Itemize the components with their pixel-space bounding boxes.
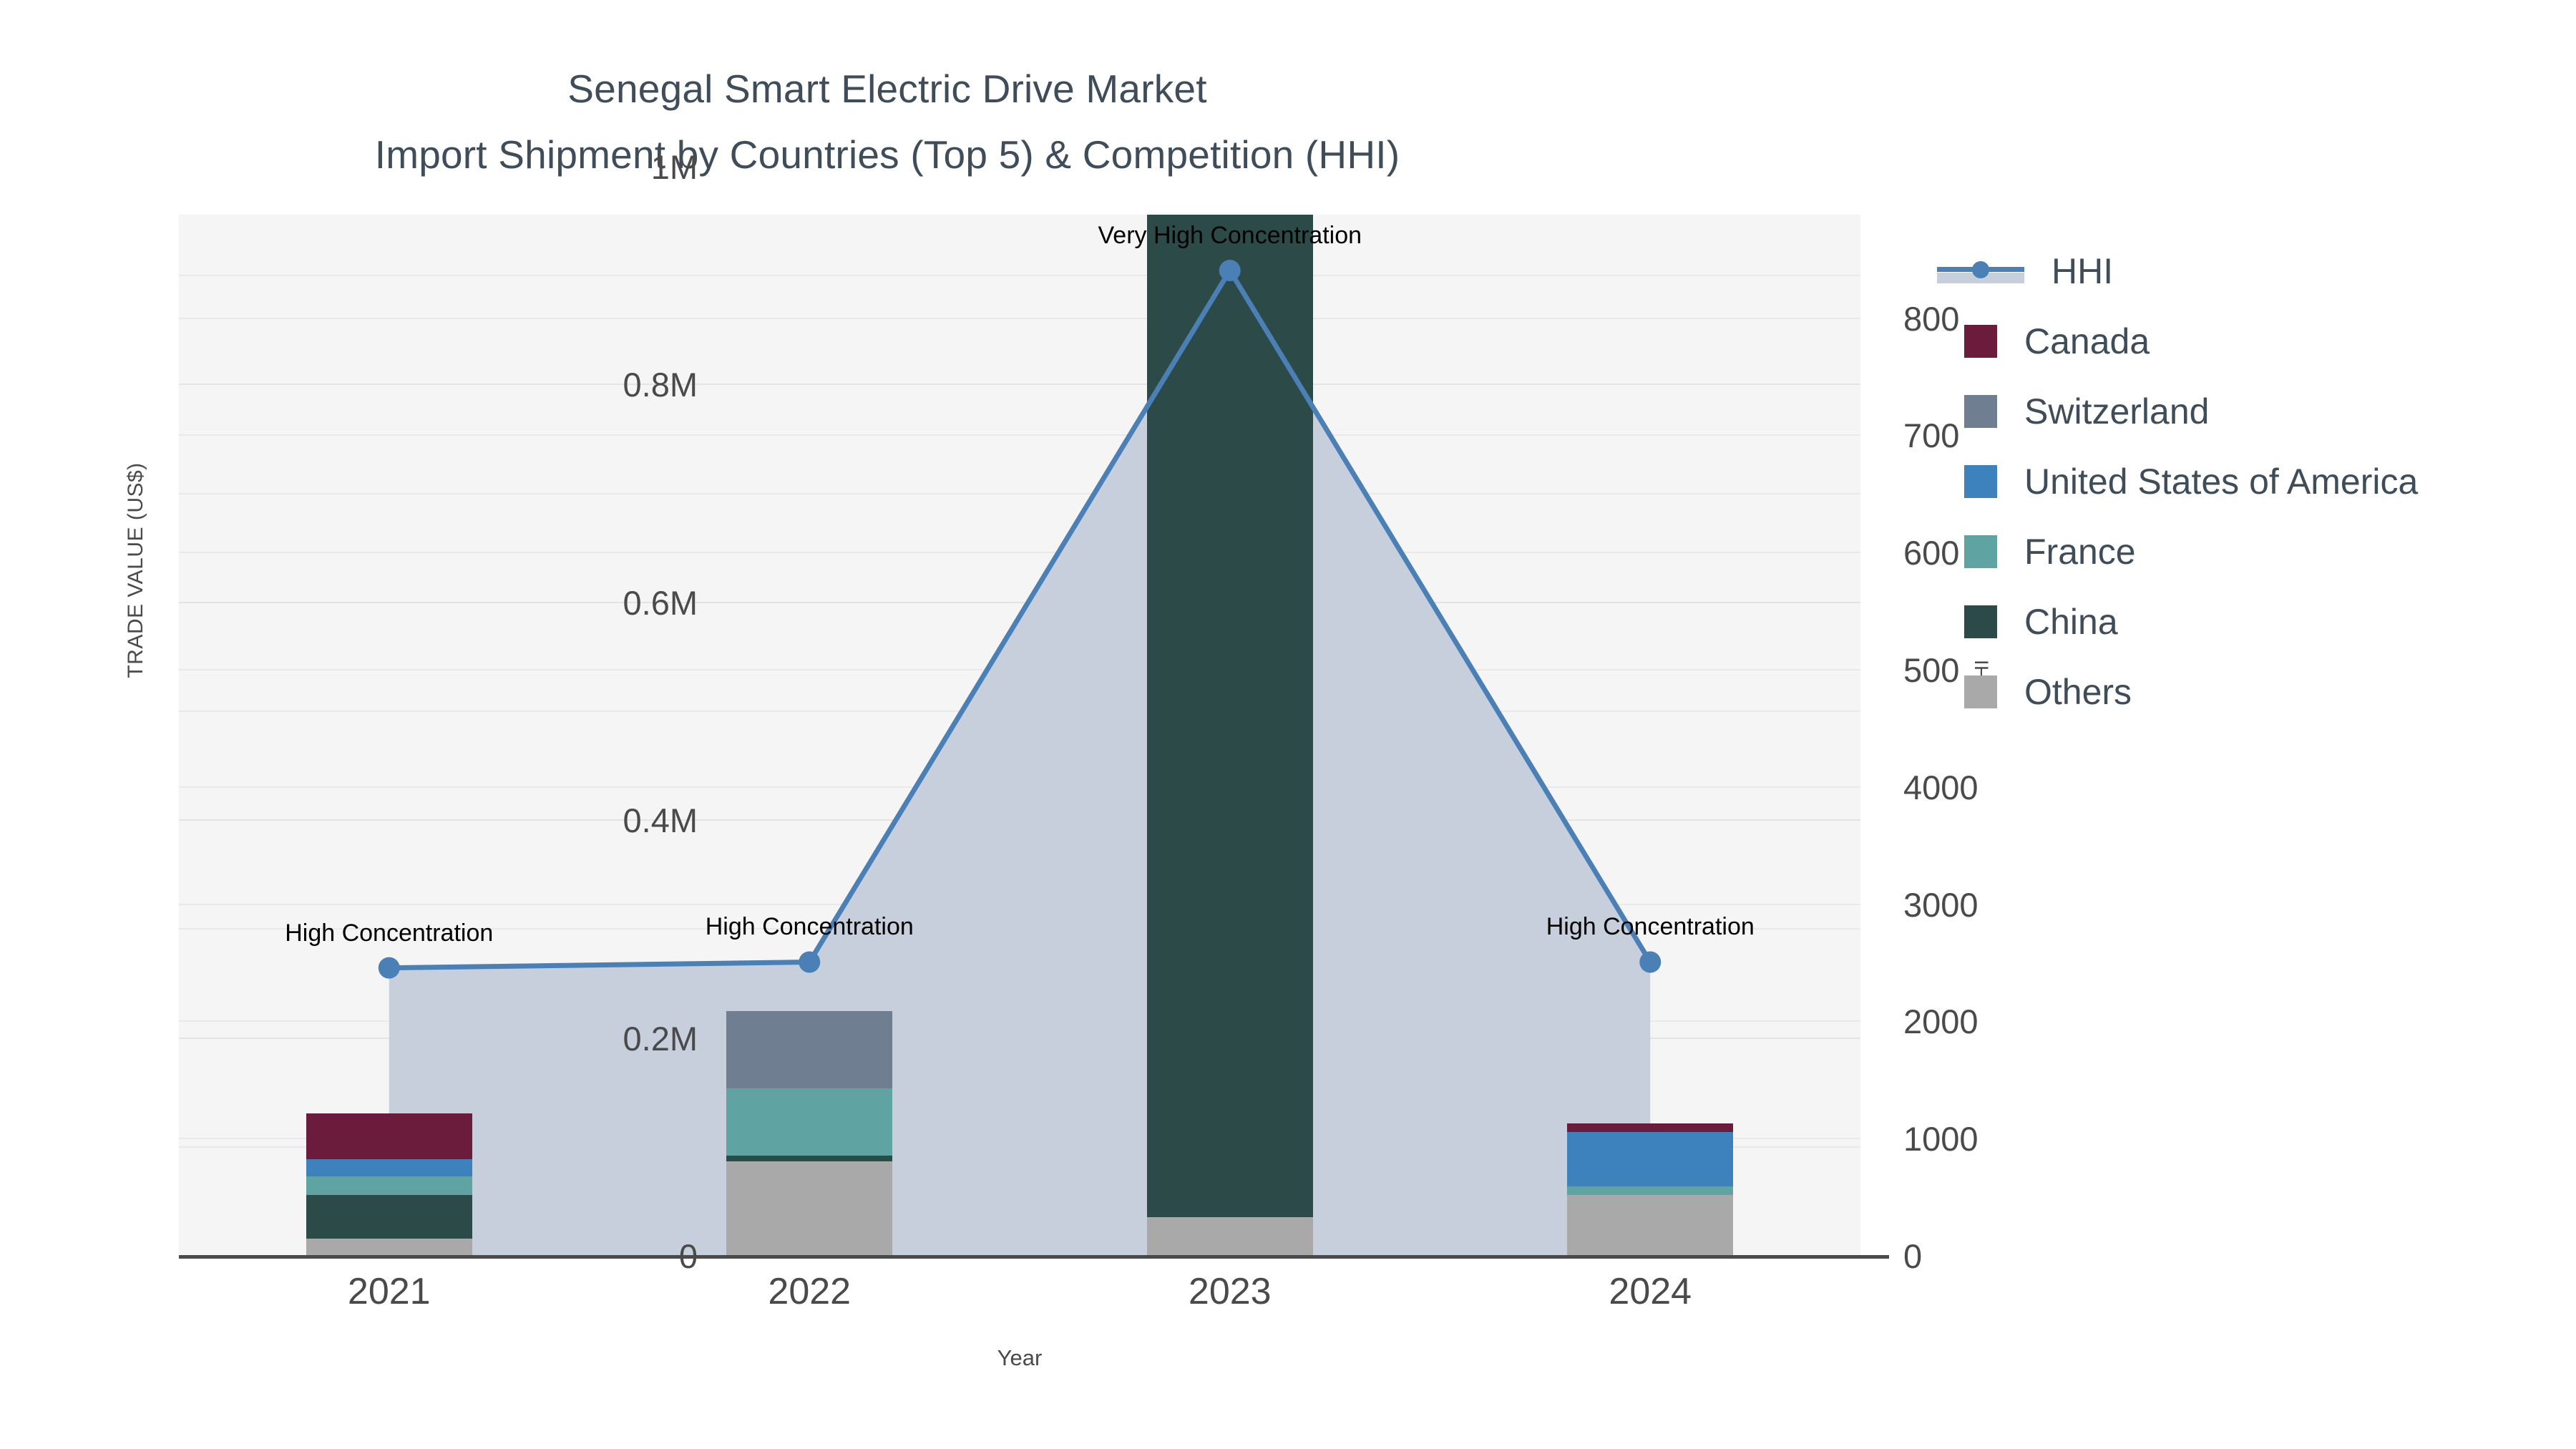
legend-label: HHI xyxy=(2051,250,2113,292)
y-axis-left-tick: 0.8M xyxy=(483,365,698,404)
legend-swatch-france xyxy=(1964,535,1997,568)
hhi-marker-2023[interactable] xyxy=(1219,260,1241,281)
legend-label: Canada xyxy=(2024,321,2150,362)
y-axis-left-tick: 1M xyxy=(483,147,698,187)
plot-area xyxy=(179,215,1860,1256)
hhi-marker-2022[interactable] xyxy=(799,951,820,972)
legend-item-china[interactable]: China xyxy=(1964,587,2558,657)
hhi-line-layer xyxy=(179,215,1860,1256)
x-axis-label: Year xyxy=(877,1345,1163,1371)
y-axis-left-tick: 0.2M xyxy=(483,1019,698,1058)
x-axis-tick-2023: 2023 xyxy=(1087,1270,1373,1313)
y-axis-left-tick: 0.6M xyxy=(483,583,698,623)
chart-canvas: Senegal Smart Electric Drive Market Impo… xyxy=(0,0,2576,1449)
legend-item-canada[interactable]: Canada xyxy=(1964,306,2558,376)
legend-item-switzerland[interactable]: Switzerland xyxy=(1964,376,2558,447)
x-axis-tick-2021: 2021 xyxy=(246,1270,532,1313)
legend-item-others[interactable]: Others xyxy=(1964,657,2558,727)
hhi-marker-2021[interactable] xyxy=(379,957,400,979)
y-axis-right-tick: 1000 xyxy=(1903,1119,2132,1158)
y-axis-right-tick: 3000 xyxy=(1903,885,2132,924)
hhi-annotation-2024: High Concentration xyxy=(1546,913,1755,941)
y-axis-right-tick: 4000 xyxy=(1903,768,2132,807)
legend-label: Switzerland xyxy=(2024,391,2209,432)
hhi-annotation-2023: Very High Concentration xyxy=(1098,222,1362,250)
hhi-annotation-2021: High Concentration xyxy=(285,919,493,947)
chart-title-line-2: Import Shipment by Countries (Top 5) & C… xyxy=(0,122,1775,187)
chart-title: Senegal Smart Electric Drive Market Impo… xyxy=(0,56,1775,187)
y-axis-left-tick: 0.4M xyxy=(483,801,698,840)
y-axis-right-tick: 0 xyxy=(1903,1236,2132,1276)
legend-label: France xyxy=(2024,531,2136,572)
legend: HHICanadaSwitzerlandUnited States of Ame… xyxy=(1964,236,2558,727)
legend-swatch-others xyxy=(1964,675,1997,708)
legend-item-france[interactable]: France xyxy=(1964,517,2558,587)
legend-line-icon xyxy=(1937,255,2024,288)
plot-inner xyxy=(179,215,1860,1256)
hhi-marker-2024[interactable] xyxy=(1639,951,1661,972)
legend-swatch-china xyxy=(1964,605,1997,638)
chart-title-line-1: Senegal Smart Electric Drive Market xyxy=(0,56,1775,122)
legend-line-marker xyxy=(1972,261,1989,278)
legend-item-united-states-of-america[interactable]: United States of America xyxy=(1964,447,2558,517)
legend-label: Others xyxy=(2024,671,2132,713)
legend-swatch-canada xyxy=(1964,325,1997,358)
hhi-annotation-2022: High Concentration xyxy=(706,913,914,941)
y-axis-left-label: TRADE VALUE (US$) xyxy=(124,427,148,713)
x-axis-tick-2024: 2024 xyxy=(1507,1270,1793,1313)
legend-label: China xyxy=(2024,601,2118,643)
legend-item-hhi[interactable]: HHI xyxy=(1964,236,2558,306)
y-axis-right-tick: 2000 xyxy=(1903,1002,2132,1041)
legend-swatch-switzerland xyxy=(1964,395,1997,428)
x-axis-line xyxy=(179,1255,1889,1259)
legend-swatch-united-states-of-america xyxy=(1964,465,1997,498)
x-axis-tick-2022: 2022 xyxy=(666,1270,952,1313)
legend-label: United States of America xyxy=(2024,461,2418,502)
